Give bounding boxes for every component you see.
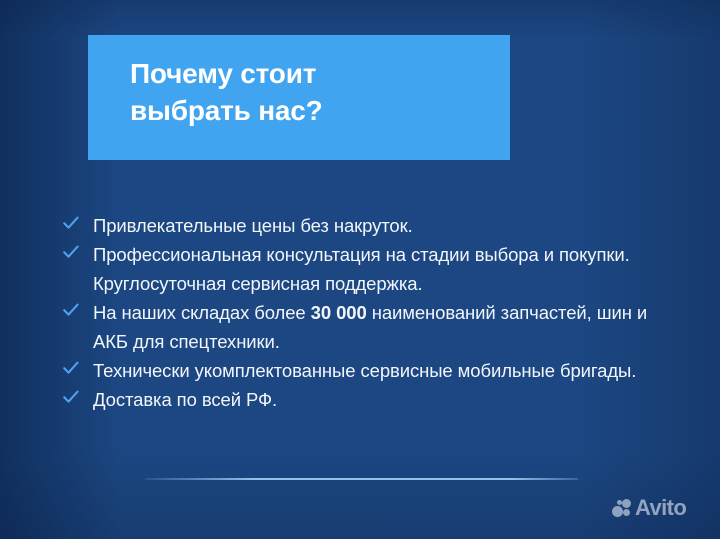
heading-banner: Почему стоит выбрать нас? — [88, 35, 510, 160]
list-item-text: Технически укомплектованные сервисные мо… — [93, 356, 672, 385]
list-item-text: Профессиональная консультация на стадии … — [93, 240, 672, 298]
list-item: Привлекательные цены без накруток. — [62, 211, 672, 240]
list-item-text: Доставка по всей РФ. — [93, 385, 672, 414]
avito-dots-logo-icon — [612, 499, 631, 518]
divider — [145, 478, 578, 480]
list-item-text: Привлекательные цены без накруток. — [93, 211, 672, 240]
page-title: Почему стоит выбрать нас? — [130, 56, 323, 130]
list-item: Технически укомплектованные сервисные мо… — [62, 356, 672, 385]
check-icon — [62, 243, 80, 261]
list-item: Профессиональная консультация на стадии … — [62, 240, 672, 298]
presentation-slide: Почему стоит выбрать нас? Привлекательны… — [0, 0, 720, 539]
check-icon — [62, 359, 80, 377]
list-item: Доставка по всей РФ. — [62, 385, 672, 414]
list-item: На наших складах более 30 000 наименован… — [62, 298, 672, 356]
list-item-text: На наших складах более 30 000 наименован… — [93, 298, 672, 356]
check-icon — [62, 388, 80, 406]
vignette-top — [0, 0, 720, 40]
vignette-bottom — [0, 449, 720, 539]
check-icon — [62, 301, 80, 319]
check-icon — [62, 214, 80, 232]
avito-watermark: Avito — [612, 497, 686, 519]
avito-wordmark: Avito — [635, 497, 686, 519]
benefits-list: Привлекательные цены без накруток. Профе… — [62, 211, 672, 414]
